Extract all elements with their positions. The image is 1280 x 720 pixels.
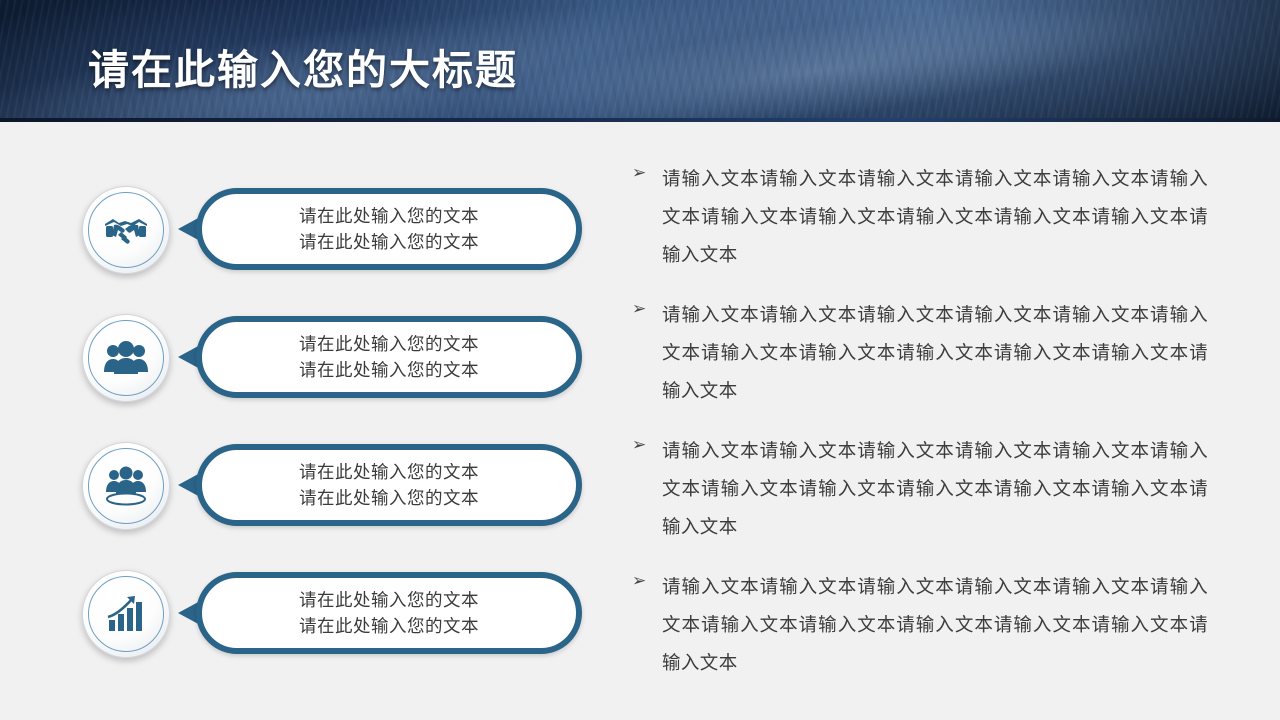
bullet-item[interactable]: ➢ 请输入文本请输入文本请输入文本请输入文本请输入文本请输入文本请输入文本请输入… bbox=[628, 568, 1208, 682]
arrow-bullet-icon: ➢ bbox=[632, 164, 646, 181]
icon-circle bbox=[82, 570, 170, 658]
list-item[interactable]: 请在此处输入您的文本 请在此处输入您的文本 bbox=[82, 442, 582, 528]
header-divider bbox=[0, 118, 1280, 122]
bubble-text[interactable]: 请在此处输入您的文本 请在此处输入您的文本 bbox=[196, 572, 582, 654]
bubble-text[interactable]: 请在此处输入您的文本 请在此处输入您的文本 bbox=[196, 444, 582, 526]
bar-chart-growth-icon bbox=[104, 593, 148, 635]
handshake-icon bbox=[103, 210, 149, 250]
bullet-item[interactable]: ➢ 请输入文本请输入文本请输入文本请输入文本请输入文本请输入文本请输入文本请输入… bbox=[628, 432, 1208, 546]
arrow-bullet-icon: ➢ bbox=[632, 300, 646, 317]
slide-root: 请在此输入您的大标题 bbox=[0, 0, 1280, 720]
page-title: 请在此输入您的大标题 bbox=[88, 36, 518, 96]
bullet-text: 请输入文本请输入文本请输入文本请输入文本请输入文本请输入文本请输入文本请输入文本… bbox=[662, 432, 1208, 546]
bubble-line-2: 请在此处输入您的文本 bbox=[299, 357, 479, 383]
bubble-line-1: 请在此处输入您的文本 bbox=[299, 459, 479, 485]
bubble-line-1: 请在此处输入您的文本 bbox=[299, 331, 479, 357]
bubble-line-1: 请在此处输入您的文本 bbox=[299, 587, 479, 613]
right-column: ➢ 请输入文本请输入文本请输入文本请输入文本请输入文本请输入文本请输入文本请输入… bbox=[628, 160, 1208, 682]
list-item[interactable]: 请在此处输入您的文本 请在此处输入您的文本 bbox=[82, 186, 582, 272]
list-item[interactable]: 请在此处输入您的文本 请在此处输入您的文本 bbox=[82, 314, 582, 400]
bubble-text[interactable]: 请在此处输入您的文本 请在此处输入您的文本 bbox=[196, 316, 582, 398]
bullet-text: 请输入文本请输入文本请输入文本请输入文本请输入文本请输入文本请输入文本请输入文本… bbox=[662, 296, 1208, 410]
list-item[interactable]: 请在此处输入您的文本 请在此处输入您的文本 bbox=[82, 570, 582, 656]
icon-circle bbox=[82, 314, 170, 402]
bubble-line-2: 请在此处输入您的文本 bbox=[299, 485, 479, 511]
team-group-icon bbox=[103, 338, 149, 378]
arrow-bullet-icon: ➢ bbox=[632, 572, 646, 589]
arrow-bullet-icon: ➢ bbox=[632, 436, 646, 453]
bullet-text: 请输入文本请输入文本请输入文本请输入文本请输入文本请输入文本请输入文本请输入文本… bbox=[662, 160, 1208, 274]
bullet-item[interactable]: ➢ 请输入文本请输入文本请输入文本请输入文本请输入文本请输入文本请输入文本请输入… bbox=[628, 296, 1208, 410]
bubble-line-2: 请在此处输入您的文本 bbox=[299, 229, 479, 255]
bubble-line-2: 请在此处输入您的文本 bbox=[299, 613, 479, 639]
icon-circle bbox=[82, 186, 170, 274]
bullet-text: 请输入文本请输入文本请输入文本请输入文本请输入文本请输入文本请输入文本请输入文本… bbox=[662, 568, 1208, 682]
bullet-item[interactable]: ➢ 请输入文本请输入文本请输入文本请输入文本请输入文本请输入文本请输入文本请输入… bbox=[628, 160, 1208, 274]
bubble-line-1: 请在此处输入您的文本 bbox=[299, 203, 479, 229]
bubble-text[interactable]: 请在此处输入您的文本 请在此处输入您的文本 bbox=[196, 188, 582, 270]
left-column: 请在此处输入您的文本 请在此处输入您的文本 bbox=[0, 150, 600, 710]
people-network-icon bbox=[103, 464, 149, 508]
icon-circle bbox=[82, 442, 170, 530]
